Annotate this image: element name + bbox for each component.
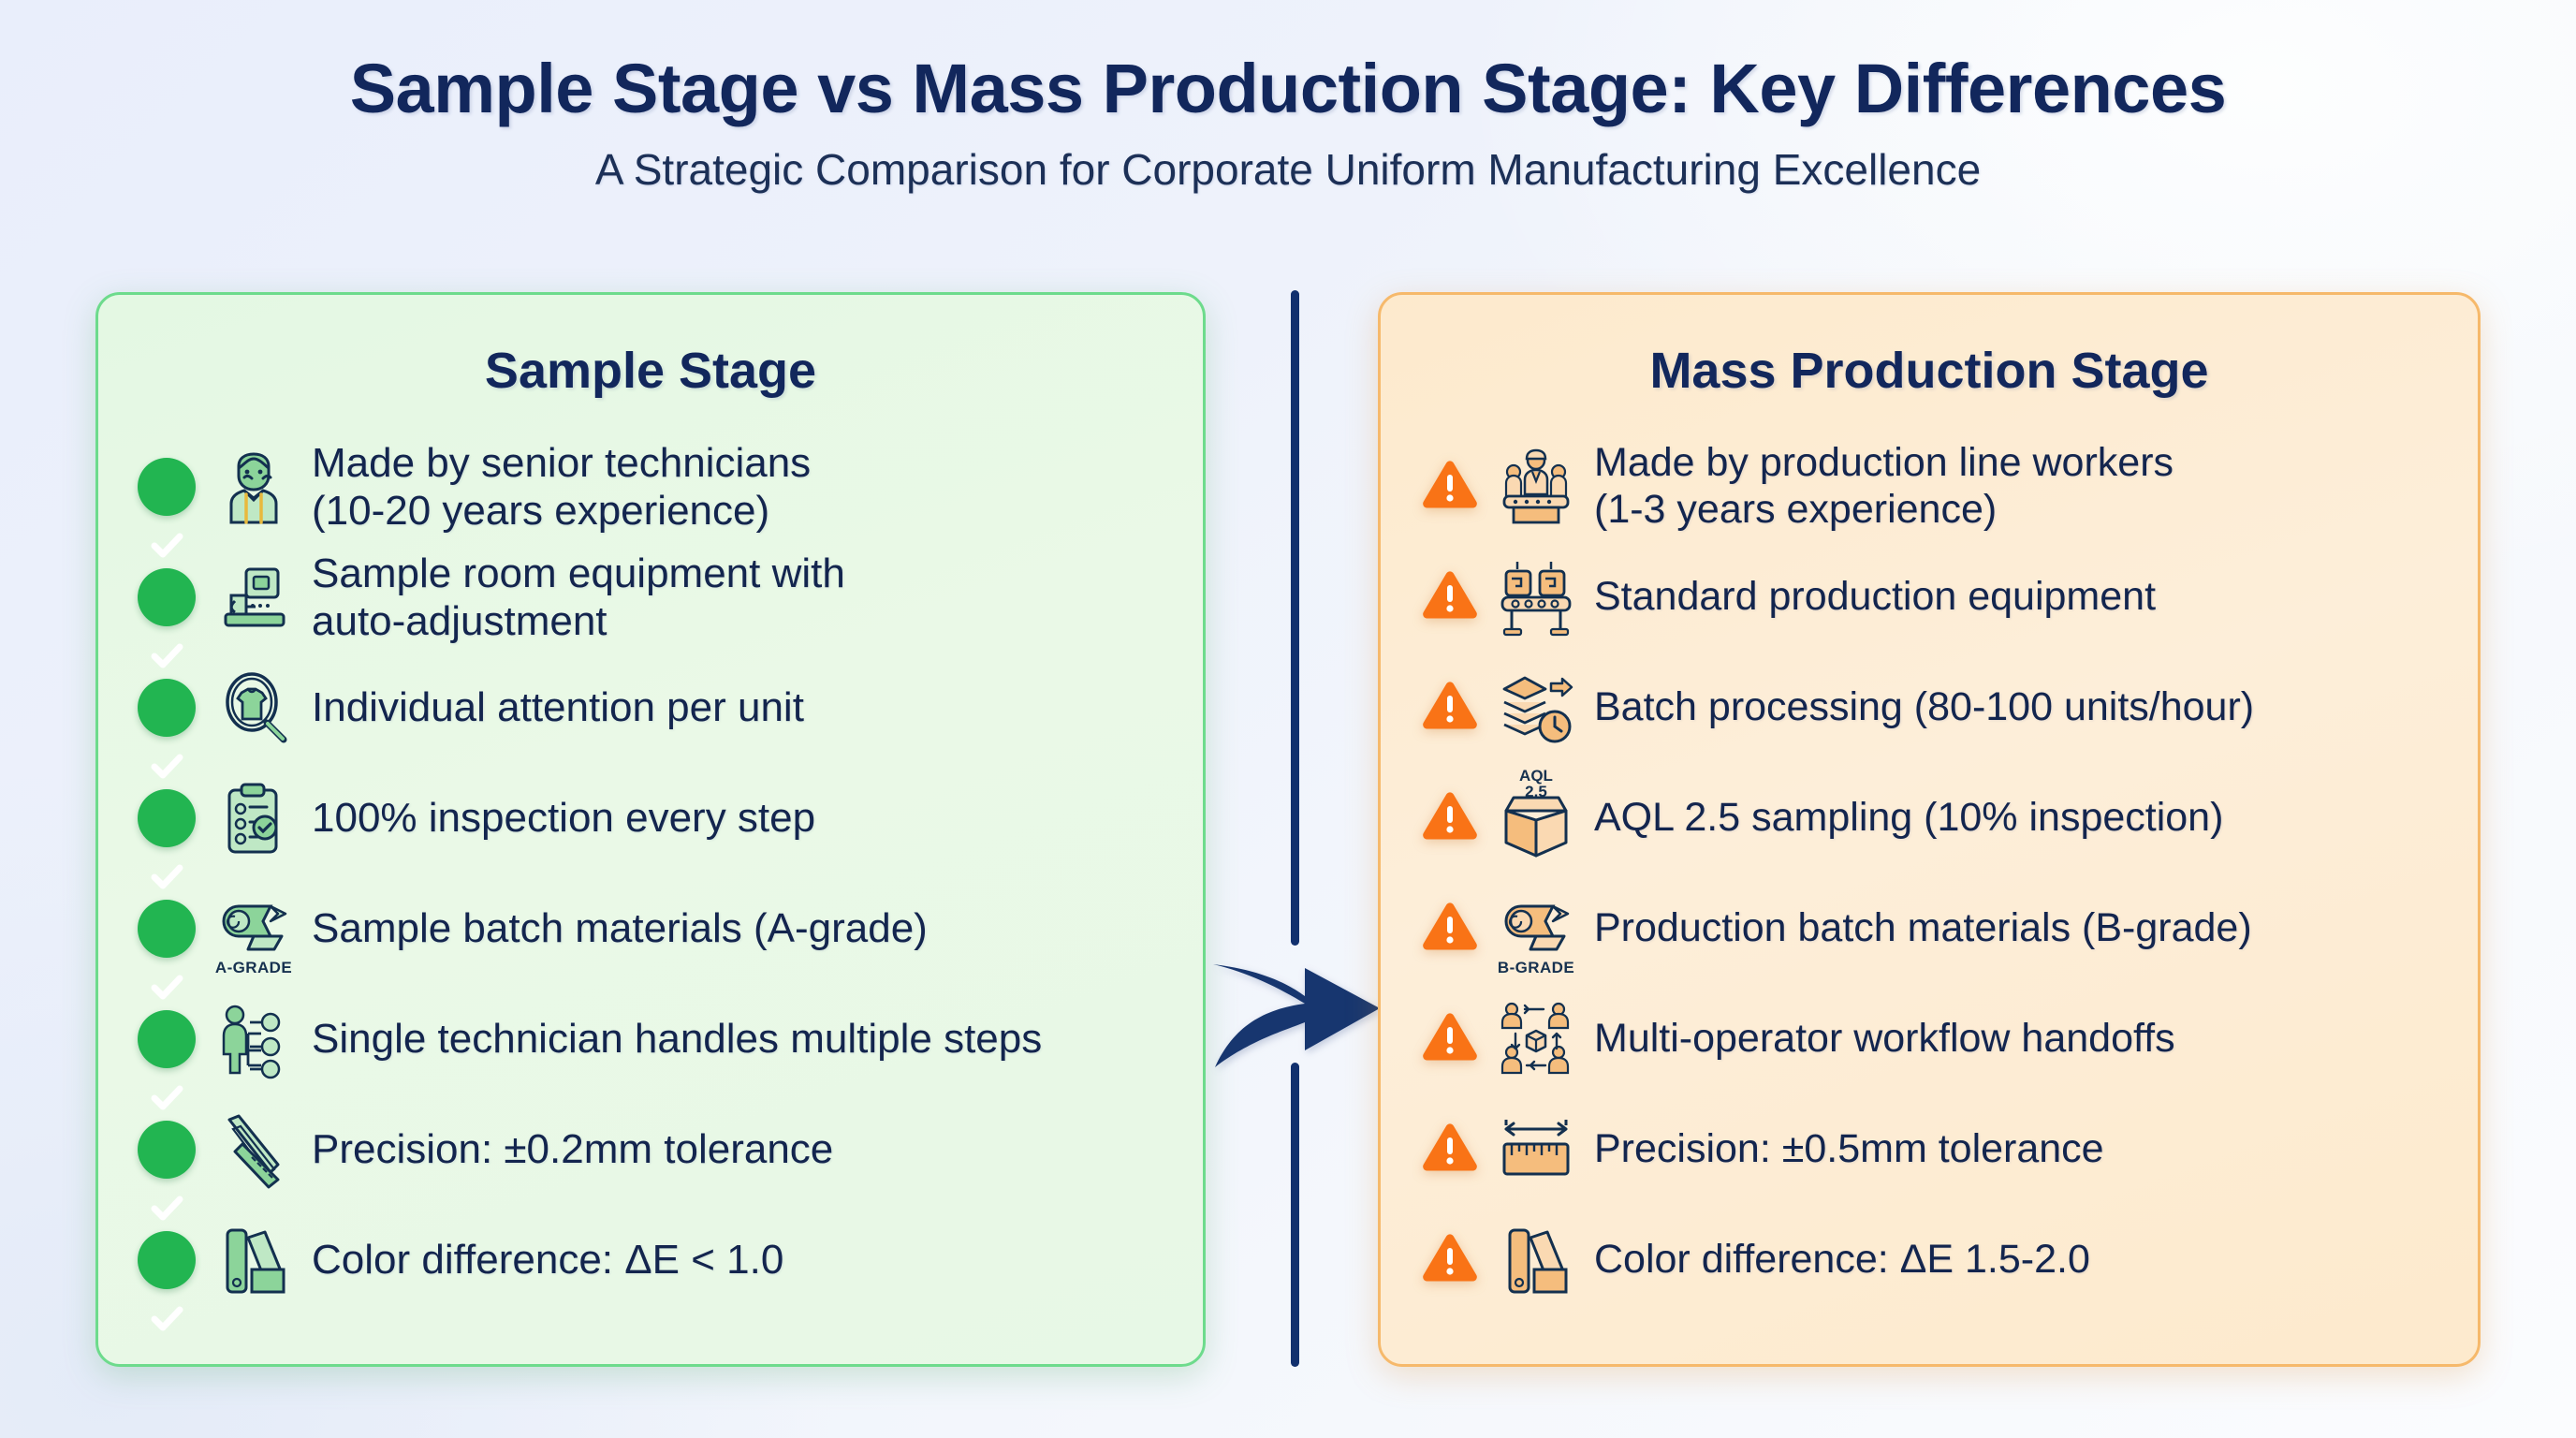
sample-stage-list: Made by senior technicians (10-20 years … (98, 432, 1203, 1315)
list-item-label: Single technician handles multiple steps (312, 1015, 1042, 1063)
multi-operator-handoff-icon (1491, 994, 1581, 1084)
list-item-label: Color difference: ΔE 1.5-2.0 (1594, 1237, 2090, 1284)
caliper-icon (209, 1105, 299, 1195)
list-item-label: Made by senior technicians (10-20 years … (312, 439, 811, 535)
mass-production-stage-title: Mass Production Stage (1381, 295, 2478, 400)
list-item: Single technician handles multiple steps (98, 984, 1203, 1094)
list-item-label: Precision: ±0.2mm tolerance (312, 1125, 833, 1173)
list-item: Precision: ±0.2mm tolerance (98, 1094, 1203, 1205)
color-swatch-icon (1491, 1215, 1581, 1305)
clipboard-checklist-icon (209, 773, 299, 863)
production-equipment-icon (1491, 552, 1581, 642)
fabric-roll-icon: B-GRADE (1491, 884, 1581, 974)
warning-triangle-icon (1420, 1231, 1478, 1289)
warning-triangle-icon (1420, 789, 1478, 847)
check-circle-icon (138, 1231, 196, 1289)
aql-box-icon: AQL 2.5 (1491, 773, 1581, 863)
senior-technician-icon (209, 442, 299, 532)
list-item-label: AQL 2.5 sampling (10% inspection) (1594, 795, 2223, 842)
warning-triangle-icon (1420, 458, 1478, 516)
list-item: Color difference: ΔE 1.5-2.0 (1381, 1205, 2478, 1315)
sample-stage-title: Sample Stage (98, 295, 1203, 400)
list-item: Color difference: ΔE < 1.0 (98, 1205, 1203, 1315)
single-operator-workflow-icon (209, 994, 299, 1084)
grade-label: A-GRADE (215, 959, 292, 977)
center-divider-top (1291, 290, 1299, 946)
check-circle-icon (138, 789, 196, 847)
list-item: Individual attention per unit (98, 653, 1203, 763)
check-circle-icon (138, 679, 196, 737)
center-divider-bottom (1291, 1063, 1299, 1367)
list-item: A-GRADESample batch materials (A-grade) (98, 873, 1203, 984)
mass-production-stage-panel: Mass Production Stage (1378, 292, 2481, 1367)
list-item: AQL 2.5AQL 2.5 sampling (10% inspection) (1381, 763, 2478, 873)
list-item-label: Precision: ±0.5mm tolerance (1594, 1126, 2104, 1173)
sewing-machine-icon (209, 552, 299, 642)
mass-production-stage-list: Made by production line workers (1-3 yea… (1381, 432, 2478, 1315)
list-item: Precision: ±0.5mm tolerance (1381, 1094, 2478, 1205)
grade-label: B-GRADE (1498, 959, 1574, 977)
list-item-label: Multi-operator workflow handoffs (1594, 1016, 2175, 1063)
check-circle-icon (138, 458, 196, 516)
page-title: Sample Stage vs Mass Production Stage: K… (0, 51, 2576, 128)
list-item: Sample room equipment with auto-adjustme… (98, 542, 1203, 653)
page-header: Sample Stage vs Mass Production Stage: K… (0, 0, 2576, 195)
warning-triangle-icon (1420, 1121, 1478, 1179)
list-item: Made by production line workers (1-3 yea… (1381, 432, 2478, 542)
list-item: Made by senior technicians (10-20 years … (98, 432, 1203, 542)
warning-triangle-icon (1420, 900, 1478, 958)
list-item: Standard production equipment (1381, 542, 2478, 653)
check-circle-icon (138, 900, 196, 958)
arrow-right-icon (1207, 936, 1385, 1077)
shirt-magnifier-icon (209, 663, 299, 753)
list-item: B-GRADEProduction batch materials (B-gra… (1381, 873, 2478, 984)
list-item-label: Sample batch materials (A-grade) (312, 904, 928, 952)
list-item-label: Batch processing (80-100 units/hour) (1594, 684, 2254, 731)
list-item: Multi-operator workflow handoffs (1381, 984, 2478, 1094)
list-item-label: Color difference: ΔE < 1.0 (312, 1236, 783, 1284)
batch-stack-clock-icon (1491, 663, 1581, 753)
production-line-workers-icon (1491, 442, 1581, 532)
list-item-label: Standard production equipment (1594, 574, 2156, 621)
warning-triangle-icon (1420, 679, 1478, 737)
aql-label: AQL 2.5 (1519, 768, 1553, 800)
check-circle-icon (138, 1010, 196, 1068)
ruler-icon (1491, 1105, 1581, 1195)
list-item-label: Sample room equipment with auto-adjustme… (312, 550, 845, 645)
check-circle-icon (138, 568, 196, 626)
list-item-label: Individual attention per unit (312, 683, 804, 731)
check-circle-icon (138, 1121, 196, 1179)
list-item: Batch processing (80-100 units/hour) (1381, 653, 2478, 763)
page-subtitle: A Strategic Comparison for Corporate Uni… (0, 145, 2576, 195)
list-item-label: Production batch materials (B-grade) (1594, 905, 2252, 952)
list-item-label: 100% inspection every step (312, 794, 815, 842)
list-item-label: Made by production line workers (1-3 yea… (1594, 440, 2173, 534)
list-item: 100% inspection every step (98, 763, 1203, 873)
fabric-roll-icon: A-GRADE (209, 884, 299, 974)
color-swatch-icon (209, 1215, 299, 1305)
warning-triangle-icon (1420, 568, 1478, 626)
warning-triangle-icon (1420, 1010, 1478, 1068)
sample-stage-panel: Sample Stage Made by senior technicians … (95, 292, 1206, 1367)
